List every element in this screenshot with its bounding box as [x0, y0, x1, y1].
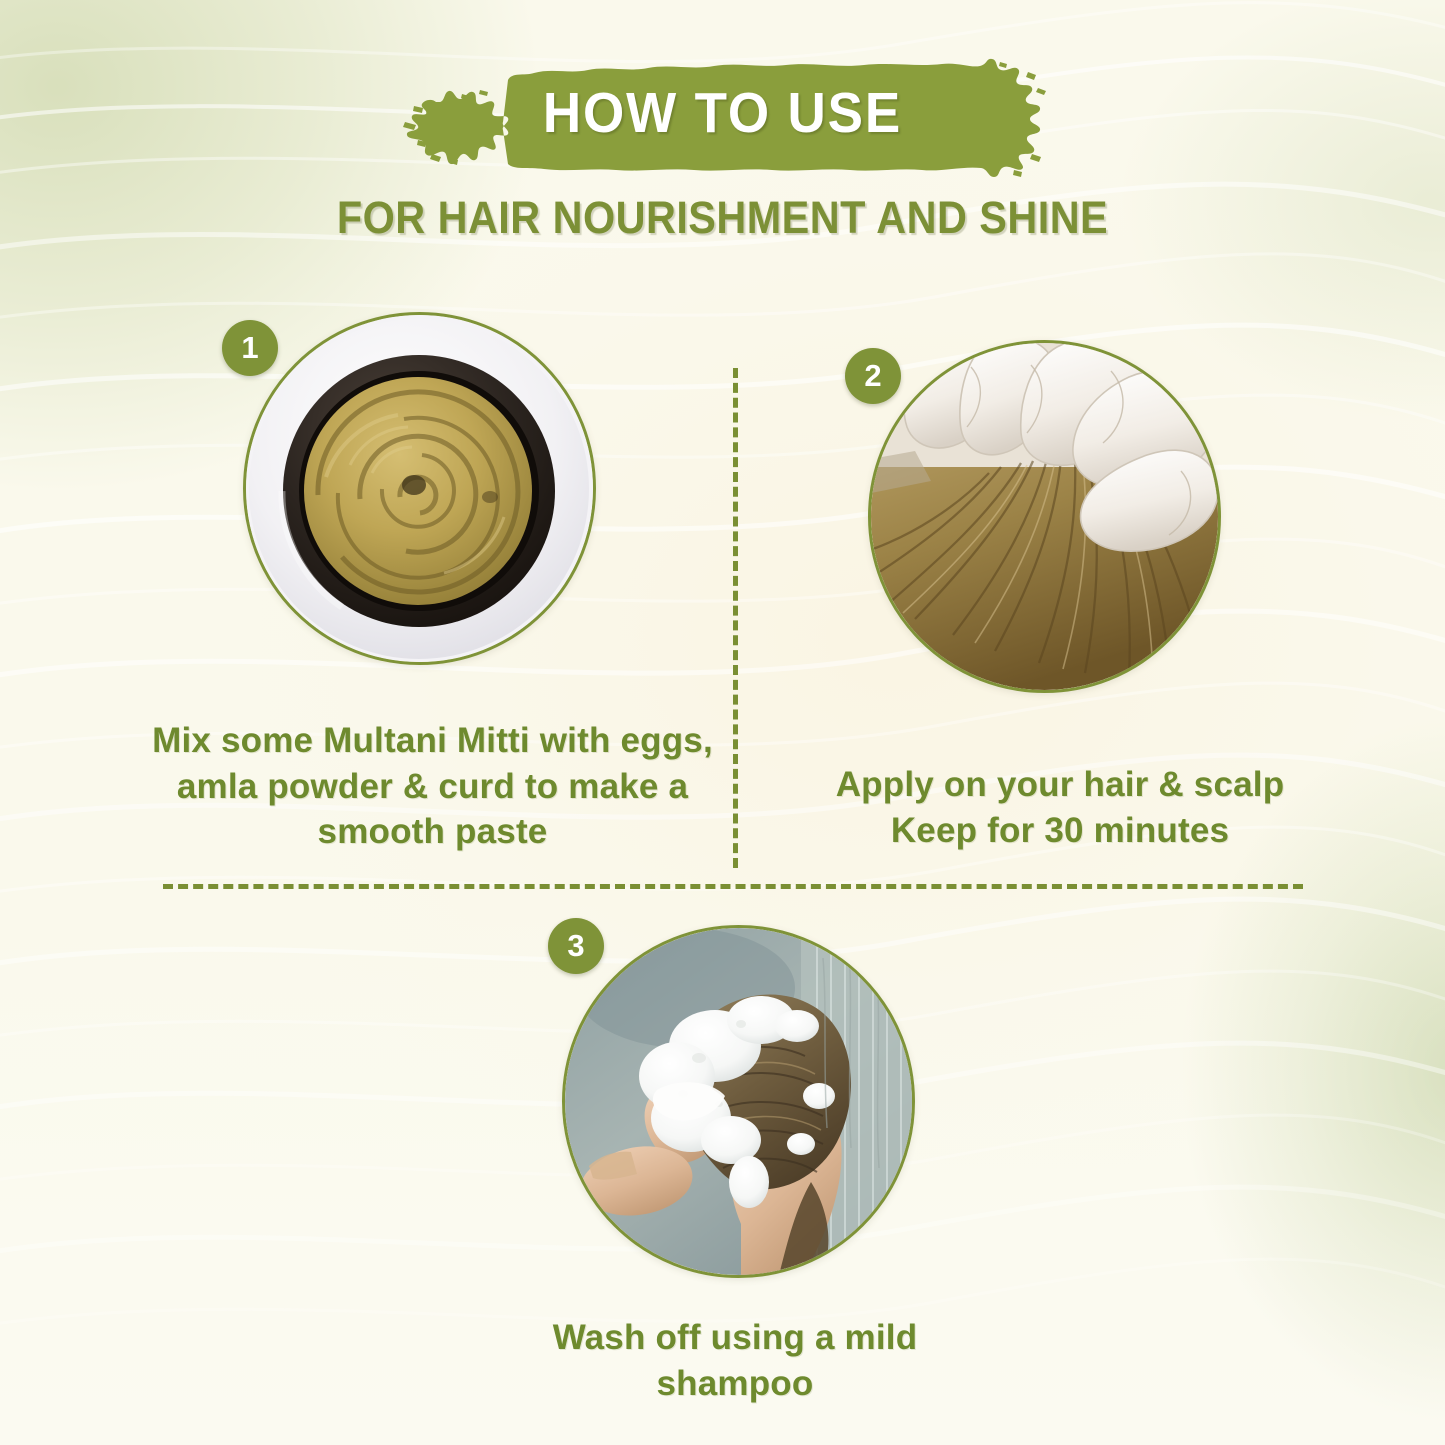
step-3-number-badge: 3: [548, 918, 604, 974]
step-1-photo-circle: [243, 312, 596, 665]
step-1-caption: Mix some Multani Mitti with eggs, amla p…: [110, 718, 755, 855]
page-subtitle: FOR HAIR NOURISHMENT AND SHINE: [58, 192, 1387, 244]
step-3-caption: Wash off using a mild shampoo: [480, 1315, 990, 1406]
step-3-photo-circle: [562, 925, 915, 1278]
horizontal-dashed-divider: [163, 884, 1303, 889]
step-1-number-badge: 1: [222, 320, 278, 376]
step-2-caption: Apply on your hair & scalp Keep for 30 m…: [800, 762, 1320, 853]
bowl-of-multani-mitti-paste-photo: [246, 315, 593, 662]
page-title: HOW TO USE: [51, 80, 1395, 146]
step-2-number-badge: 2: [845, 348, 901, 404]
gloved-hands-applying-paste-to-hair-photo: [871, 343, 1218, 690]
how-to-use-infographic: HOW TO USE FOR HAIR NOURISHMENT AND SHIN…: [0, 0, 1445, 1445]
washing-hair-with-shampoo-photo: [565, 928, 912, 1275]
step-2-photo-circle: [868, 340, 1221, 693]
